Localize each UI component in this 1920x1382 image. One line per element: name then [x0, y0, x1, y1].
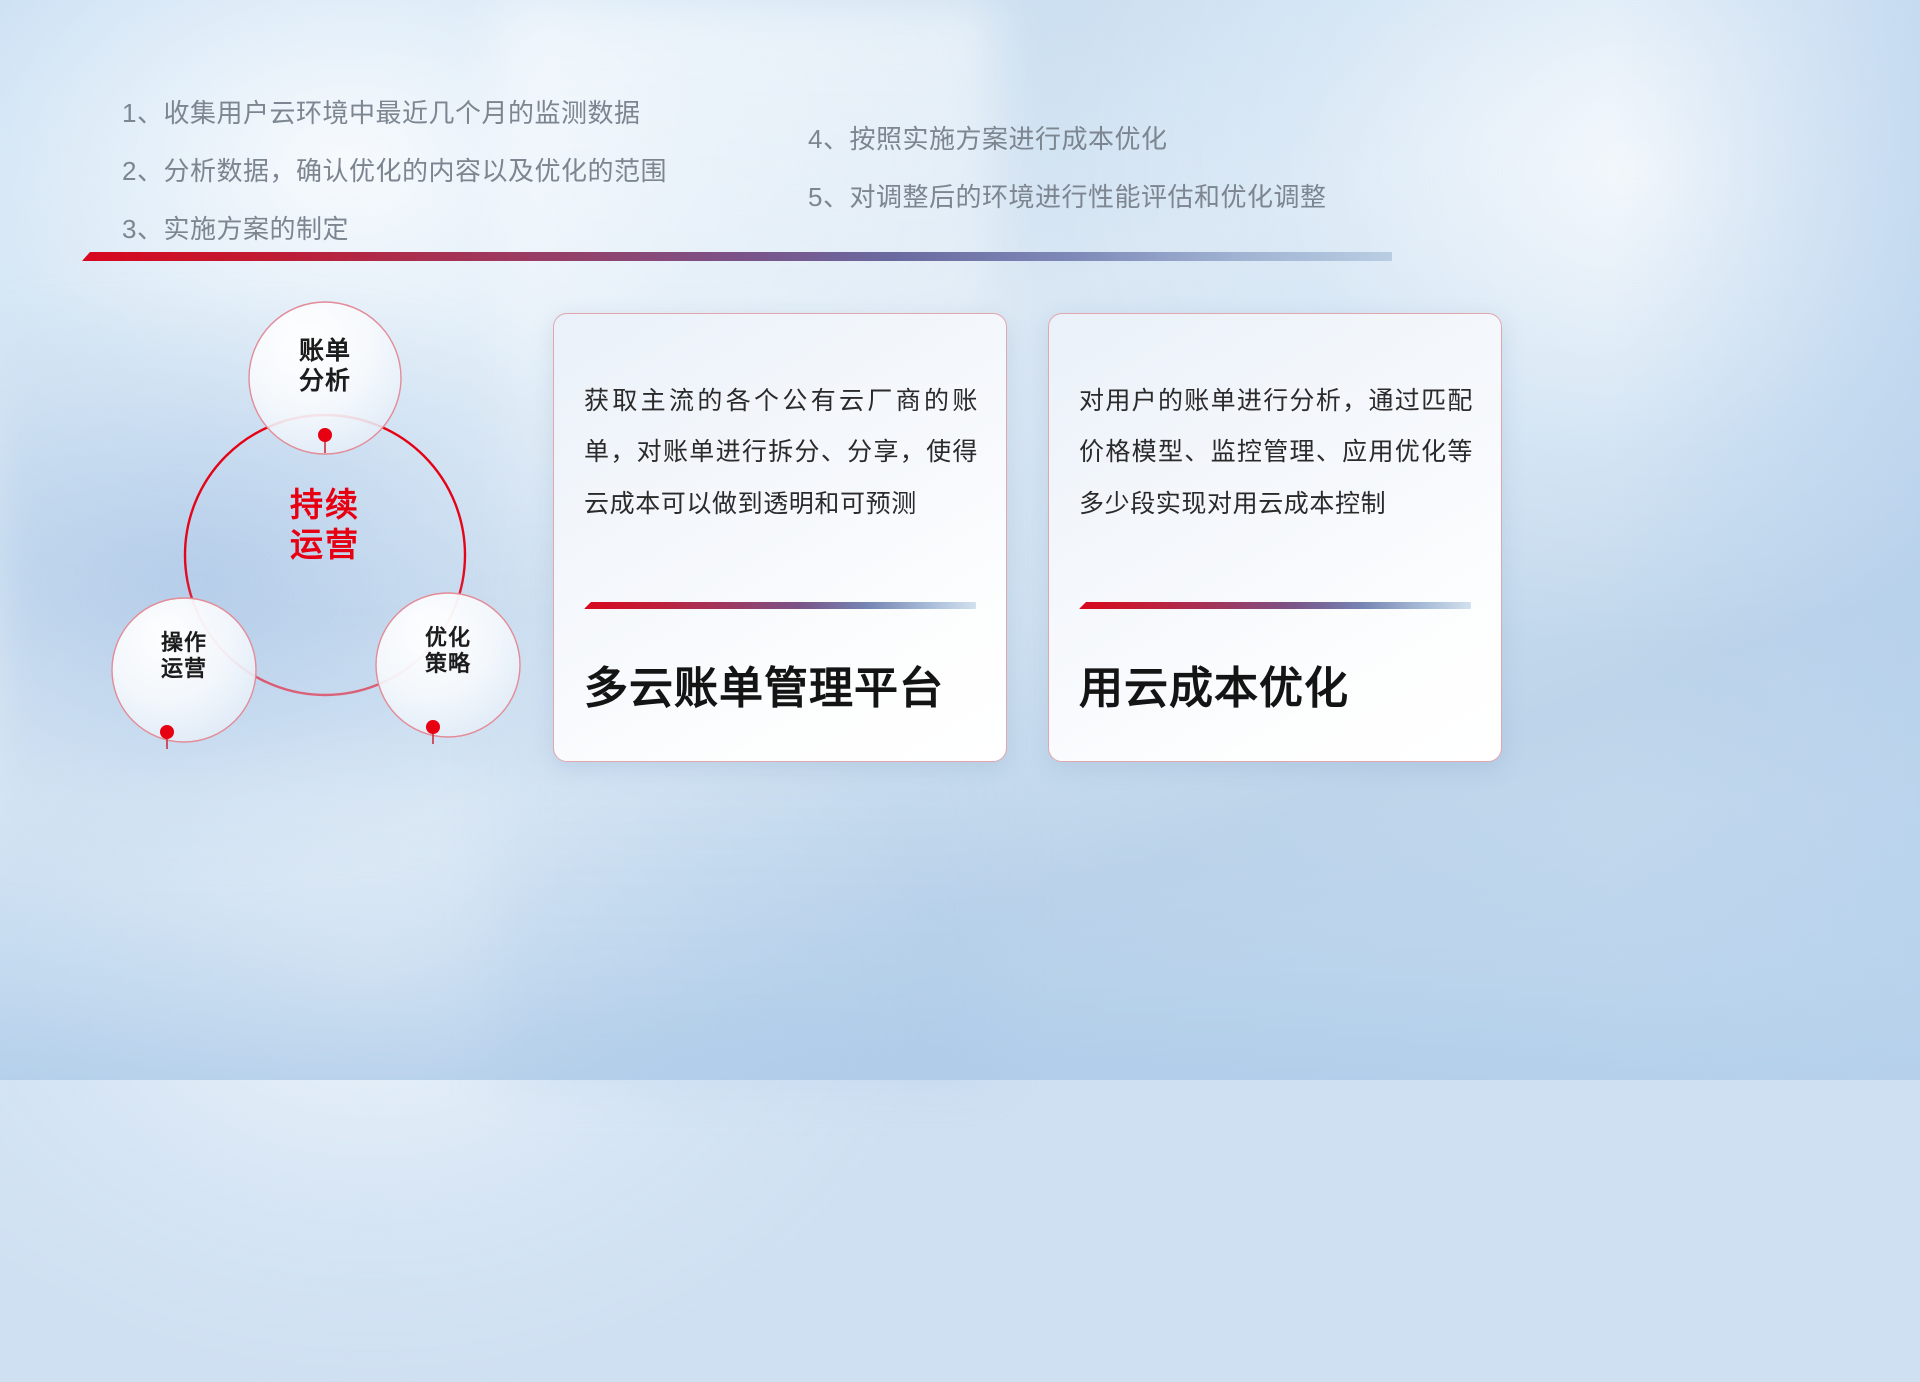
bubble-label-strategy: 优化 策略: [393, 625, 503, 677]
step-list-right: 4、按照实施方案进行成本优化 5、对调整后的环境进行性能评估和优化调整: [808, 126, 1326, 242]
step-item-1: 1、收集用户云环境中最近几个月的监测数据: [122, 100, 667, 126]
continuous-operation-diagram: 账单 分析 操作 运营 优化 策略 持续 运营: [75, 285, 545, 775]
center-label-line-1: 持续: [240, 485, 410, 525]
center-label-line-2: 运营: [240, 525, 410, 565]
node-dot-top: [318, 428, 332, 442]
node-dot-right: [426, 720, 440, 734]
card-body-text: 对用户的账单进行分析，通过匹配价格模型、监控管理、应用优化等多少段实现对用云成本…: [1079, 376, 1473, 530]
card-multi-cloud-bill-platform[interactable]: 获取主流的各个公有云厂商的账单，对账单进行拆分、分享，使得云成本可以做到透明和可…: [553, 313, 1007, 762]
card-divider: [1079, 602, 1471, 609]
node-dot-left: [160, 725, 174, 739]
bubble-label-line-2: 运营: [129, 656, 239, 682]
bubble-label-operation: 操作 运营: [129, 630, 239, 682]
step-item-4: 4、按照实施方案进行成本优化: [808, 126, 1326, 152]
bubble-label-billing-analysis: 账单 分析: [265, 337, 385, 396]
bubble-label-line-1: 账单: [265, 337, 385, 367]
step-item-2: 2、分析数据，确认优化的内容以及优化的范围: [122, 158, 667, 184]
card-cloud-cost-optimization[interactable]: 对用户的账单进行分析，通过匹配价格模型、监控管理、应用优化等多少段实现对用云成本…: [1048, 313, 1502, 762]
card-title: 多云账单管理平台: [584, 652, 986, 716]
step-list-left: 1、收集用户云环境中最近几个月的监测数据 2、分析数据，确认优化的内容以及优化的…: [122, 100, 667, 274]
bubble-label-line-1: 优化: [393, 625, 503, 651]
diagram-center-label: 持续 运营: [240, 485, 410, 566]
background-right-fade: [1613, 0, 1920, 1080]
step-item-3: 3、实施方案的制定: [122, 216, 667, 242]
card-title: 用云成本优化: [1079, 652, 1481, 716]
step-item-5: 5、对调整后的环境进行性能评估和优化调整: [808, 184, 1326, 210]
bubble-label-line-1: 操作: [129, 630, 239, 656]
bubble-label-line-2: 分析: [265, 367, 385, 397]
section-divider: [82, 252, 1392, 261]
card-divider: [584, 602, 976, 609]
card-body-text: 获取主流的各个公有云厂商的账单，对账单进行拆分、分享，使得云成本可以做到透明和可…: [584, 376, 978, 530]
bubble-label-line-2: 策略: [393, 651, 503, 677]
